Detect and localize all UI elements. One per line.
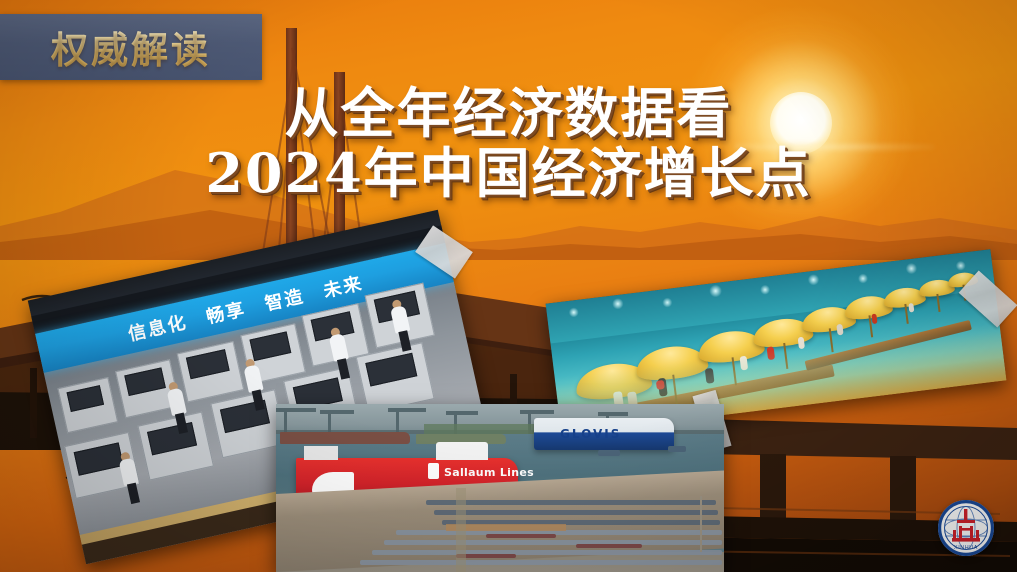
car-storage-yard xyxy=(276,486,724,572)
tourist xyxy=(871,314,877,325)
tugboat xyxy=(668,446,686,452)
ship-glovis: GLOVIS xyxy=(534,418,674,450)
distant-ship xyxy=(280,432,410,444)
ship-glovis-label: GLOVIS xyxy=(560,427,621,441)
authoritative-interpretation-badge: 权威解读 xyxy=(0,14,262,80)
sallaum-logo-icon xyxy=(428,463,439,479)
light-mast xyxy=(700,496,702,552)
tourist xyxy=(836,324,843,336)
xinhua-wordmark: XINHUA xyxy=(954,545,978,551)
xinhua-news-agency-logo[interactable]: XINHUA xyxy=(938,500,994,556)
tourist xyxy=(908,303,914,313)
ship-deckhouse xyxy=(304,446,338,460)
badge-label: 权威解读 xyxy=(51,20,211,74)
title-line-1: 从全年经济数据看 xyxy=(0,86,1017,142)
ship-sallaum-label: Sallaum Lines xyxy=(444,466,534,479)
port-photo-card[interactable]: GLOVIS Sallaum Lines xyxy=(276,404,724,572)
ship-bridge-superstructure xyxy=(436,442,488,460)
tugboat xyxy=(598,450,620,456)
poster-canvas: 权威解读 从全年经济数据看 2024年中国经济增长点 信息化 畅享 智造 未来 xyxy=(0,0,1017,572)
page-title: 从全年经济数据看 2024年中国经济增长点 xyxy=(0,86,1017,201)
title-line-2: 2024年中国经济增长点 xyxy=(0,146,1017,202)
